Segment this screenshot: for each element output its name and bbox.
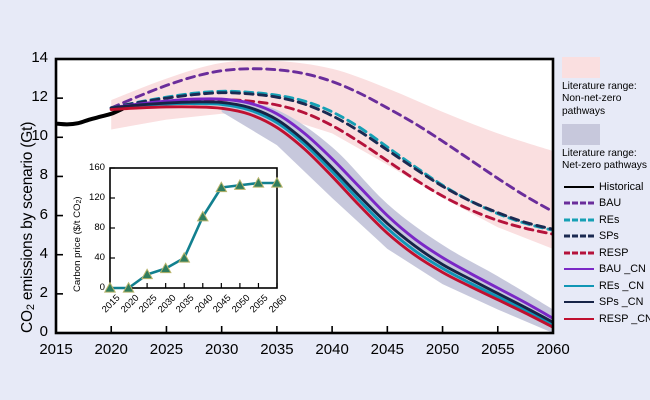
y-tick-6: 6	[22, 206, 48, 223]
x-tick-2040: 2040	[302, 341, 362, 358]
x-tick-2015: 2015	[26, 341, 86, 358]
legend-band-label: Literature range: Net-zero pathways	[562, 148, 650, 173]
y-tick-14: 14	[22, 49, 48, 66]
legend-label: BAU	[599, 197, 621, 209]
x-tick-2045: 2045	[357, 341, 417, 358]
x-tick-2030: 2030	[192, 341, 252, 358]
inset-y-tick-0: 0	[78, 282, 105, 293]
y-tick-4: 4	[22, 245, 48, 262]
legend-line-swatch	[562, 280, 596, 291]
legend-item-bau[interactable]: BAU	[562, 195, 650, 212]
carbon-price-inset	[105, 168, 282, 292]
legend-line-swatch	[562, 198, 596, 209]
legend-item-resp[interactable]: RESP	[562, 244, 650, 261]
legend-label: Historical	[599, 181, 643, 193]
legend-label: RESP _CN	[599, 313, 650, 325]
legend-line-swatch	[562, 313, 596, 324]
x-tick-2050: 2050	[413, 341, 473, 358]
legend-line-swatch	[562, 214, 596, 225]
y-axis-title: CO2 emissions by scenario (Gt)	[19, 122, 37, 333]
legend-label: BAU _CN	[599, 263, 646, 275]
legend-line-entries: HistoricalBAUREsSPsRESPBAU _CNREs _CNSPs…	[562, 178, 650, 327]
x-tick-2020: 2020	[81, 341, 141, 358]
legend-band-label: Literature range: Non-net-zero pathways	[562, 81, 650, 118]
y-tick-2: 2	[22, 284, 48, 301]
legend-item-historical[interactable]: Historical	[562, 178, 650, 195]
x-tick-2060: 2060	[523, 341, 583, 358]
legend-item-res-cn[interactable]: REs _CN	[562, 277, 650, 294]
legend-label: SPs	[599, 230, 619, 242]
legend-item-sps[interactable]: SPs	[562, 228, 650, 245]
x-tick-2025: 2025	[136, 341, 196, 358]
inset-y-tick-160: 160	[78, 162, 105, 173]
inset-y-axis-title: Carbon price ($/t CO2)	[72, 196, 83, 292]
x-tick-2035: 2035	[247, 341, 307, 358]
inset-y-tick-120: 120	[78, 192, 105, 203]
legend-band-entries: Literature range: Non-net-zero pathwaysL…	[562, 57, 650, 172]
legend-label: REs	[599, 214, 619, 226]
y-tick-10: 10	[22, 127, 48, 144]
y-tick-12: 12	[22, 88, 48, 105]
y-tick-0: 0	[22, 323, 48, 340]
legend-item-bau-cn[interactable]: BAU _CN	[562, 261, 650, 278]
x-tick-2055: 2055	[468, 341, 528, 358]
inset-y-tick-80: 80	[78, 222, 105, 233]
legend-line-swatch	[562, 297, 596, 308]
legend-label: REs _CN	[599, 280, 644, 292]
legend-item-sps-cn[interactable]: SPs _CN	[562, 294, 650, 311]
chart-figure: CO2 emissions by scenario (Gt) 201520202…	[0, 0, 650, 400]
legend-swatch	[562, 124, 600, 145]
legend-swatch	[562, 57, 600, 78]
inset-y-tick-40: 40	[78, 252, 105, 263]
legend-label: RESP	[599, 247, 628, 259]
legend-line-swatch	[562, 247, 596, 258]
chart-legend: Literature range: Non-net-zero pathwaysL…	[562, 57, 650, 327]
legend-line-swatch	[562, 231, 596, 242]
legend-line-swatch	[562, 264, 596, 275]
y-tick-8: 8	[22, 166, 48, 183]
legend-label: SPs _CN	[599, 296, 643, 308]
legend-item-resp-cn[interactable]: RESP _CN	[562, 310, 650, 327]
legend-item-res[interactable]: REs	[562, 211, 650, 228]
legend-line-swatch	[562, 181, 596, 192]
